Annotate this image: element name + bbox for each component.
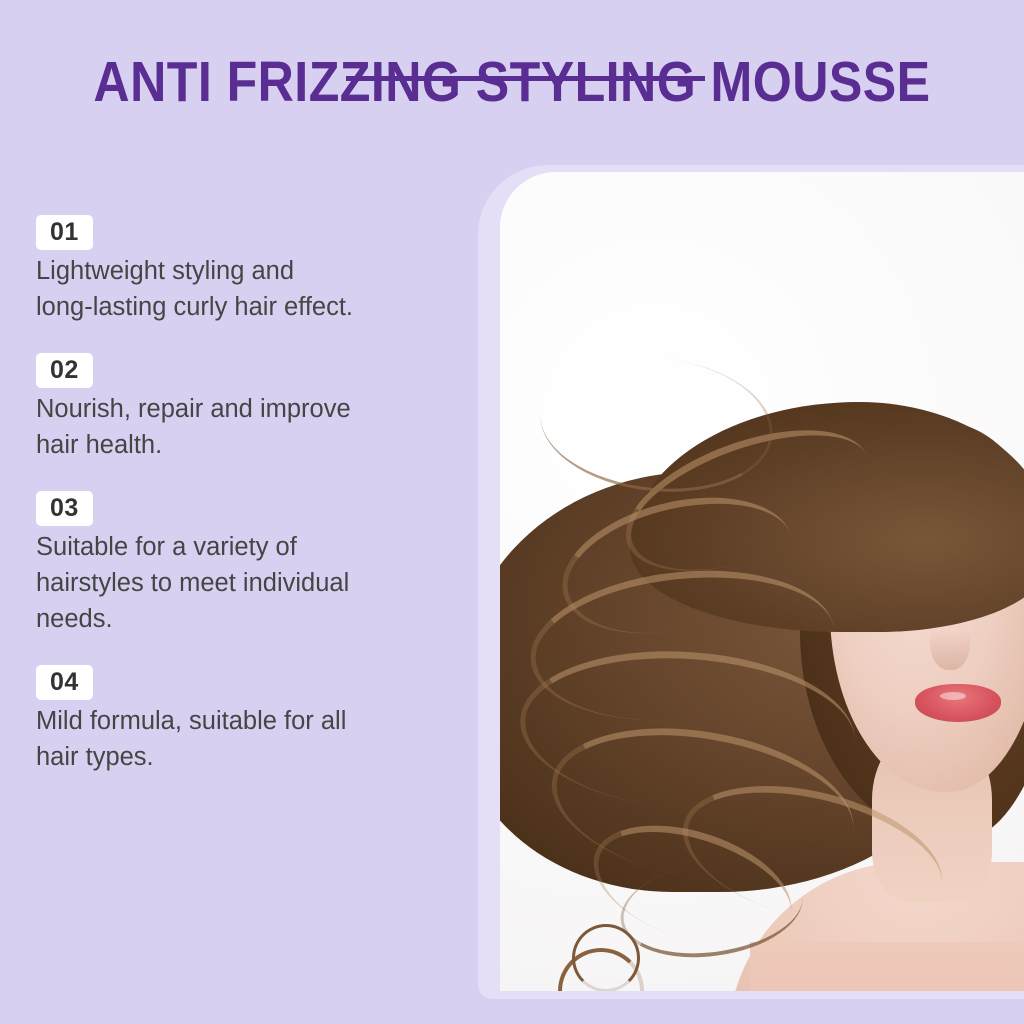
- feature-number-badge: 02: [36, 353, 93, 388]
- feature-list: 01 Lightweight styling and long-lasting …: [36, 215, 456, 775]
- feature-item-01: 01 Lightweight styling and long-lasting …: [36, 215, 456, 325]
- hair-ringlet: [572, 924, 640, 991]
- feature-item-04: 04 Mild formula, suitable for all hair t…: [36, 665, 456, 775]
- feature-item-03: 03 Suitable for a variety of hairstyles …: [36, 491, 456, 637]
- model-photo: [500, 172, 1024, 991]
- feature-item-02: 02 Nourish, repair and improve hair heal…: [36, 353, 456, 463]
- feature-description: Nourish, repair and improve hair health.: [36, 391, 451, 463]
- title-block: ANTI FRIZZING STYLING MOUSSE: [0, 52, 1024, 112]
- feature-description: Suitable for a variety of hairstyles to …: [36, 529, 451, 637]
- feature-number-badge: 01: [36, 215, 93, 250]
- feature-number-badge: 03: [36, 491, 93, 526]
- lip-highlight: [940, 692, 966, 700]
- feature-description: Lightweight styling and long-lasting cur…: [36, 253, 451, 325]
- lips: [915, 684, 1001, 722]
- feature-description: Mild formula, suitable for all hair type…: [36, 703, 451, 775]
- title-underline: [346, 76, 705, 81]
- product-photo-panel: [500, 172, 1024, 991]
- page-title: ANTI FRIZZING STYLING MOUSSE: [61, 52, 962, 112]
- product-feature-poster: ANTI FRIZZING STYLING MOUSSE: [0, 0, 1024, 1024]
- feature-number-badge: 04: [36, 665, 93, 700]
- chest: [750, 942, 1024, 991]
